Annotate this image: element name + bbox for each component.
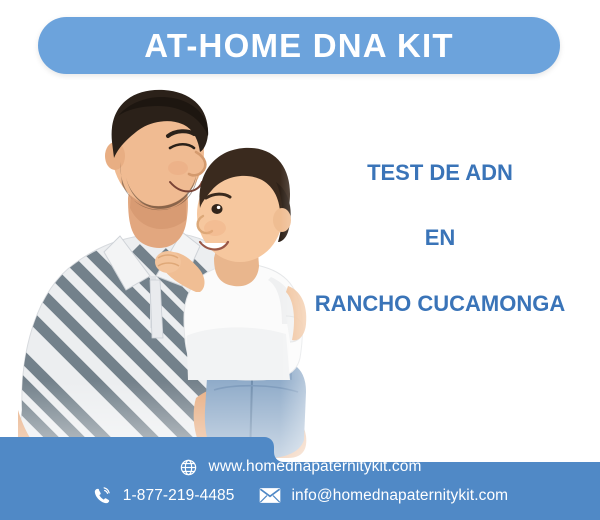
heading-line-en: EN [290,225,590,250]
header-pill: AT-HOME DNA KIT [38,17,560,74]
footer-row-website: www.homednapaternitykit.com [179,458,422,477]
website-label: www.homednapaternitykit.com [209,458,422,476]
location-heading-block: TEST DE ADN EN RANCHO CUCAMONGA [290,160,590,316]
heading-line-city: RANCHO CUCAMONGA [290,291,590,316]
phone-label: 1-877-219-4485 [123,487,235,505]
contact-footer: www.homednapaternitykit.com 1-877-219-44… [0,430,600,520]
email-item[interactable]: info@homednapaternitykit.com [259,487,509,505]
phone-item[interactable]: 1-877-219-4485 [92,486,235,506]
page-title: AT-HOME DNA KIT [144,29,453,62]
website-item[interactable]: www.homednapaternitykit.com [179,458,422,477]
father-and-child-photo [0,80,340,458]
envelope-icon [259,487,281,504]
globe-icon [179,458,198,477]
footer-row-phone-email: 1-877-219-4485 info@homednapaternitykit.… [92,486,508,506]
heading-line-test-de-adn: TEST DE ADN [290,160,590,185]
phone-icon [92,486,112,506]
email-label: info@homednapaternitykit.com [292,487,509,505]
dna-kit-banner: AT-HOME DNA KIT [0,0,600,520]
